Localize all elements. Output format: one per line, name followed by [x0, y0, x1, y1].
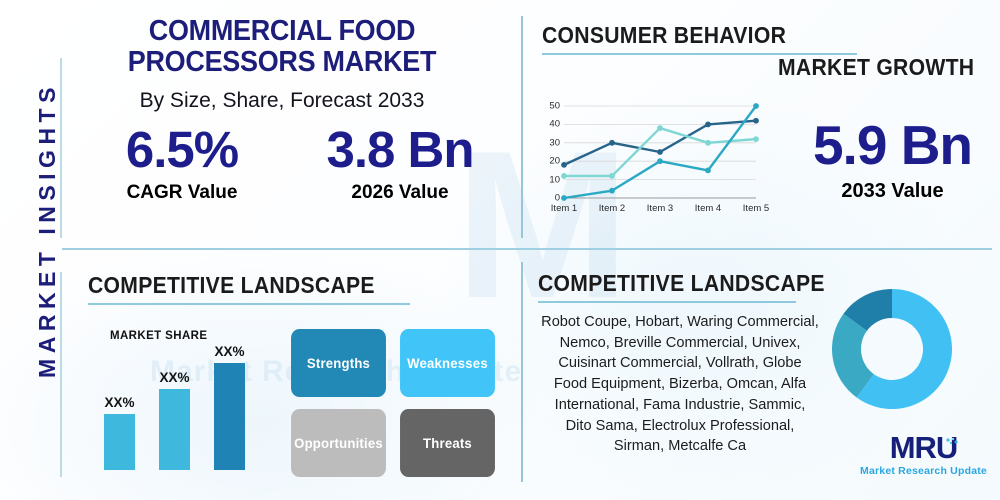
logo-dots-icon: [944, 427, 960, 443]
kpi-cagr-value: 6.5%: [82, 124, 282, 175]
x-axis-tick: Item 3: [647, 203, 673, 214]
donut-chart-svg: [828, 285, 956, 413]
swot-card-weaknesses[interactable]: Weaknesses: [400, 329, 495, 397]
x-axis-tick: Item 4: [695, 203, 721, 214]
bar-value-label: XX%: [214, 344, 244, 359]
bar-1: [104, 414, 135, 470]
bar-value-label: XX%: [159, 370, 189, 385]
line-data-point: [561, 162, 567, 168]
brand-logo: MRU Market Research Update: [856, 432, 991, 477]
line-data-point: [705, 168, 711, 174]
line-data-point: [705, 140, 711, 146]
kpi-base-year-label: 2026 Value: [300, 182, 500, 204]
company-list: Robot Coupe, Hobart, Waring Commercial, …: [540, 312, 820, 457]
bar-value-label: XX%: [104, 395, 134, 410]
section-heading-competitive-landscape-left-text: COMPETITIVE LANDSCAPE: [88, 272, 384, 299]
kpi-cagr-label: CAGR Value: [82, 182, 282, 204]
market-share-bar-chart: XX%XX%XX%: [100, 340, 280, 470]
y-axis-tick: 0: [538, 193, 560, 204]
y-axis-tick: 20: [538, 156, 560, 167]
line-data-point: [609, 188, 615, 194]
x-axis-tick: Item 5: [743, 203, 769, 214]
line-data-point: [753, 136, 759, 142]
kpi-forecast-year-value: 5.9 Bn: [790, 118, 995, 173]
market-insights-label: MARKET INSIGHTS: [34, 82, 61, 378]
page-subtitle: By Size, Share, Forecast 2033: [62, 89, 502, 113]
infographic-canvas: M Market Research Update MARKET INSIGHTS…: [0, 0, 1000, 500]
bar-2: [159, 389, 190, 470]
kpi-base-year: 3.8 Bn 2026 Value: [300, 124, 500, 204]
divider-vertical-middle-bottom: [521, 262, 523, 482]
line-data-point: [561, 195, 567, 201]
line-data-point: [561, 173, 567, 179]
line-data-point: [753, 103, 759, 109]
line-data-point: [609, 173, 615, 179]
section-rule: [88, 303, 410, 305]
page-title: COMMERCIAL FOOD PROCESSORS MARKET: [77, 16, 486, 77]
line-data-point: [705, 122, 711, 128]
kpi-cagr: 6.5% CAGR Value: [82, 124, 282, 204]
kpi-forecast-year-label: 2033 Value: [790, 180, 995, 203]
divider-vertical-left-bottom: [60, 272, 62, 477]
line-data-point: [657, 158, 663, 164]
kpi-base-year-value: 3.8 Bn: [300, 124, 500, 175]
section-heading-consumer-behavior-text: CONSUMER BEHAVIOR: [542, 22, 832, 49]
swot-card-threats[interactable]: Threats: [400, 409, 495, 477]
y-axis-tick: 40: [538, 119, 560, 130]
line-data-point: [657, 149, 663, 155]
section-rule: [538, 301, 796, 303]
y-axis-tick: 10: [538, 174, 560, 185]
y-axis-tick: 30: [538, 137, 560, 148]
section-heading-consumer-behavior: CONSUMER BEHAVIOR: [542, 22, 857, 55]
line-data-point: [657, 125, 663, 131]
market-share-donut-chart: [828, 285, 956, 413]
divider-vertical-left-top: [60, 58, 62, 238]
section-heading-competitive-landscape-left: COMPETITIVE LANDSCAPE: [88, 272, 410, 305]
line-data-point: [609, 140, 615, 146]
line-chart-svg: [538, 100, 760, 218]
section-heading-market-growth: MARKET GROWTH: [778, 54, 974, 81]
divider-vertical-middle-top: [521, 16, 523, 238]
line-data-point: [753, 118, 759, 124]
section-heading-competitive-landscape-right: COMPETITIVE LANDSCAPE: [538, 270, 850, 303]
section-heading-competitive-landscape-right-text: COMPETITIVE LANDSCAPE: [538, 270, 825, 297]
bar-3: [214, 363, 245, 470]
consumer-behavior-line-chart: 01020304050Item 1Item 2Item 3Item 4Item …: [538, 100, 760, 218]
swot-card-opportunities[interactable]: Opportunities: [291, 409, 386, 477]
divider-horizontal: [62, 248, 992, 250]
x-axis-tick: Item 1: [551, 203, 577, 214]
kpi-forecast-year: 5.9 Bn 2033 Value: [790, 118, 995, 203]
brand-logo-mark: MRU: [890, 432, 958, 463]
y-axis-tick: 50: [538, 101, 560, 112]
x-axis-tick: Item 2: [599, 203, 625, 214]
brand-logo-tagline: Market Research Update: [856, 465, 991, 477]
swot-card-strengths[interactable]: Strengths: [291, 329, 386, 397]
